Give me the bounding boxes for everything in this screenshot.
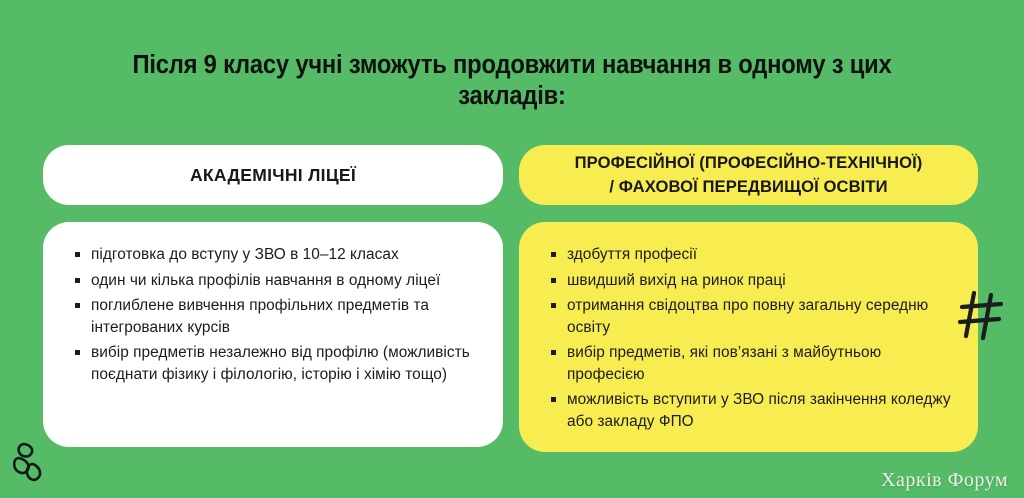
watermark: Харків Форум [881, 469, 1008, 492]
card-header-vocational-line-1: ПРОФЕСІЙНОЇ (ПРОФЕСІЙНО-ТЕХНІЧНОЇ) [575, 151, 923, 175]
list-item: вибір предметів незалежно від профілю (м… [91, 342, 473, 385]
list-item: здобуття професії [567, 244, 954, 266]
card-body-academic: підготовка до вступу у ЗВО в 10–12 класа… [43, 222, 503, 447]
list-item: отримання свідоцтва про повну загальну с… [567, 295, 954, 338]
card-header-vocational-line-2: / ФАХОВОЇ ПЕРЕДВИЩОЇ ОСВІТИ [575, 175, 923, 199]
list-item: вибір предметів, які пов’язані з майбутн… [567, 342, 954, 385]
card-header-vocational-label: ПРОФЕСІЙНОЇ (ПРОФЕСІЙНО-ТЕХНІЧНОЇ) / ФАХ… [575, 151, 923, 199]
list-item: швидший вихід на ринок праці [567, 270, 954, 292]
bullet-list-academic: підготовка до вступу у ЗВО в 10–12 класа… [43, 222, 503, 385]
hash-icon [955, 288, 1007, 342]
bullet-list-vocational: здобуття професії швидший вихід на ринок… [519, 222, 978, 432]
card-body-vocational: здобуття професії швидший вихід на ринок… [519, 222, 978, 452]
list-item: поглиблене вивчення профільних предметів… [91, 295, 473, 338]
card-header-academic: АКАДЕМІЧНІ ЛІЦЕЇ [43, 145, 503, 205]
card-header-academic-label: АКАДЕМІЧНІ ЛІЦЕЇ [190, 165, 356, 186]
petal-cluster-icon [6, 438, 76, 498]
slide-canvas: Після 9 класу учні зможуть продовжити на… [0, 0, 1024, 498]
list-item: один чи кілька профілів навчання в одном… [91, 270, 473, 292]
page-title: Після 9 класу учні зможуть продовжити на… [94, 50, 931, 112]
list-item: підготовка до вступу у ЗВО в 10–12 класа… [91, 244, 473, 266]
list-item: можливість вступити у ЗВО після закінчен… [567, 389, 954, 432]
card-header-vocational: ПРОФЕСІЙНОЇ (ПРОФЕСІЙНО-ТЕХНІЧНОЇ) / ФАХ… [519, 145, 978, 205]
